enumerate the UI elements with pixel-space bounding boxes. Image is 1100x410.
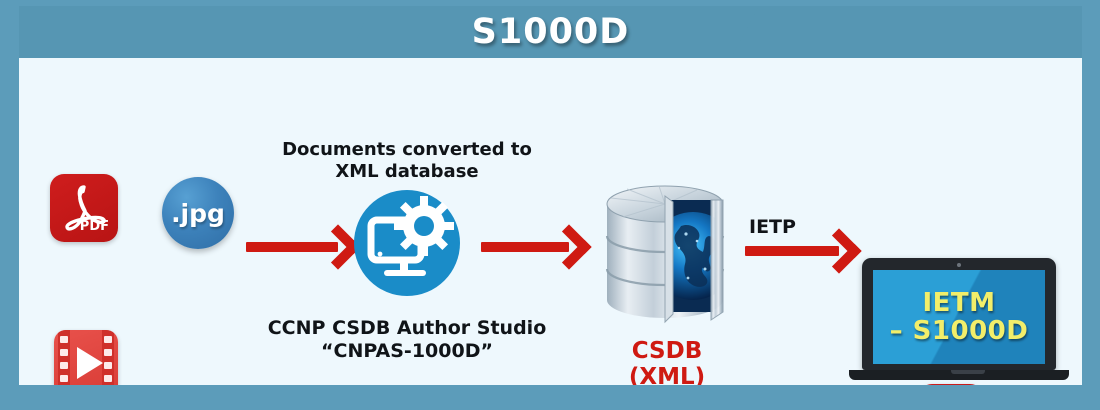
film-perforation [104, 336, 112, 343]
acrobat-glyph [918, 384, 984, 385]
source-jpg-label: .jpg [171, 199, 225, 228]
source-pdf-label: PDF [80, 219, 109, 234]
authoring-heading-line2: XML database [257, 161, 557, 183]
banner-right-bar [731, 6, 1082, 58]
laptop-screen-line1: IETM [922, 289, 995, 317]
header-banner: S1000D [19, 6, 1082, 52]
diagram-canvas: S1000D PDF .jpg W [19, 6, 1082, 385]
laptop-screen: IETM – S1000D [873, 270, 1045, 364]
outer-frame: S1000D PDF .jpg W [0, 0, 1100, 410]
authoring-caption: CCNP CSDB Author Studio “CNPAS-1000D” [257, 317, 557, 363]
arrow-sources-to-authoring [246, 234, 354, 260]
output-pdf-icon[interactable]: PDF [918, 384, 984, 385]
ietm-laptop[interactable]: IETM – S1000D [862, 258, 1056, 384]
arrow-head [546, 224, 591, 269]
authoring-caption-line2: “CNPAS-1000D” [257, 340, 557, 363]
source-video-icon[interactable] [54, 330, 118, 385]
banner-left-bar [19, 6, 371, 58]
source-jpg-icon[interactable]: .jpg [162, 177, 234, 249]
film-perforation [60, 336, 68, 343]
laptop-screen-line2: – S1000D [890, 317, 1029, 345]
play-triangle-icon [77, 347, 103, 379]
csdb-label: CSDB (XML) [595, 338, 739, 385]
laptop-trackpad-notch [951, 370, 985, 374]
authoring-caption-line1: CCNP CSDB Author Studio [257, 317, 557, 340]
film-perforation [60, 362, 68, 369]
authoring-heading: Documents converted to XML database [257, 139, 557, 183]
film-perforation [104, 349, 112, 356]
computer-gear-icon[interactable] [354, 190, 460, 296]
monitor-gear-glyph [354, 190, 460, 296]
authoring-heading-line1: Documents converted to [257, 139, 557, 161]
laptop-lid: IETM – S1000D [862, 258, 1056, 370]
film-perforation [104, 362, 112, 369]
page-title: S1000D [19, 6, 1082, 58]
webcam-icon [957, 263, 961, 267]
film-perforation [104, 375, 112, 382]
database-globe-glyph [593, 174, 737, 334]
source-pdf-icon[interactable]: PDF [50, 174, 118, 242]
film-perforation [60, 349, 68, 356]
csdb-database-icon[interactable] [593, 174, 737, 334]
film-perforation [60, 375, 68, 382]
banner-center-trapezoid [349, 6, 759, 58]
arrow-head [816, 228, 861, 273]
arrow-csdb-to-output [745, 238, 855, 264]
arrow-authoring-to-csdb [481, 234, 585, 260]
ietp-label: IETP [749, 216, 796, 238]
